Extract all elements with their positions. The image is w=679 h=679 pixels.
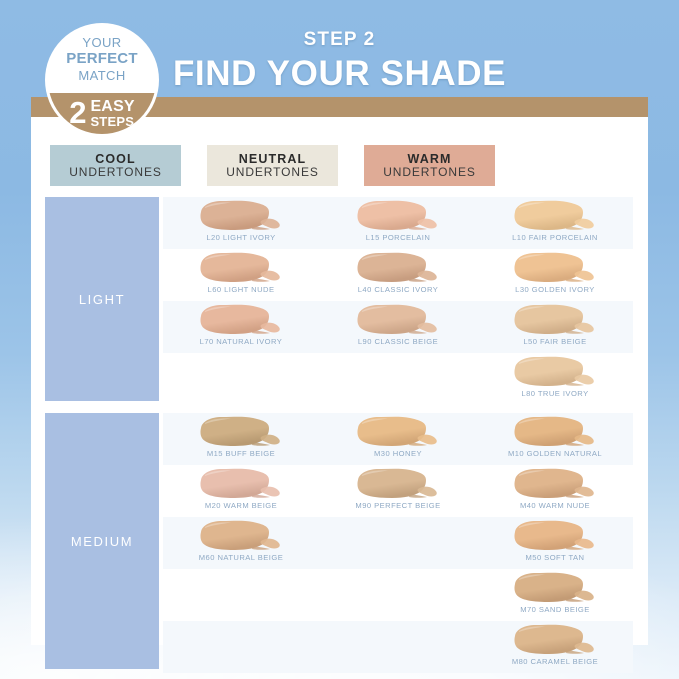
shade-row: M20 WARM BEIGEM90 PERFECT BEIGEM40 WARM …: [163, 465, 633, 517]
shade-cell[interactable]: M50 SOFT TAN: [477, 517, 633, 569]
badge-step-words: EASY STEPS: [90, 99, 134, 128]
shade-name-label: M20 WARM BEIGE: [163, 501, 319, 510]
shade-cell[interactable]: L70 NATURAL IVORY: [163, 301, 319, 353]
foundation-swatch-shape: [505, 571, 605, 604]
swatch-l60: [191, 251, 291, 284]
swatch-l40: [348, 251, 448, 284]
shade-name-label: L70 NATURAL IVORY: [163, 337, 319, 346]
shade-finder-poster: STEP 2 FIND YOUR SHADE COOLUNDERTONESNEU…: [0, 0, 679, 679]
foundation-swatch-shape: [505, 519, 605, 552]
badge-bottom: 2 EASY STEPS: [48, 93, 156, 134]
badge-line-match: MATCH: [78, 69, 125, 84]
shade-name-label: M90 PERFECT BEIGE: [320, 501, 476, 510]
shade-name-label: M30 HONEY: [320, 449, 476, 458]
swatch-l50: [505, 303, 605, 336]
undertone-name: WARM: [408, 152, 452, 166]
shade-cell-empty: [320, 353, 476, 405]
foundation-swatch-shape: [348, 415, 448, 448]
shade-name-label: L30 GOLDEN IVORY: [477, 285, 633, 294]
shade-grid: L20 LIGHT IVORYL15 PORCELAINL10 FAIR POR…: [163, 197, 633, 679]
shade-name-label: L20 LIGHT IVORY: [163, 233, 319, 242]
shade-name-label: M15 BUFF BEIGE: [163, 449, 319, 458]
foundation-swatch-shape: [348, 199, 448, 232]
shade-cell[interactable]: M60 NATURAL BEIGE: [163, 517, 319, 569]
foundation-swatch-shape: [505, 415, 605, 448]
shade-cell-empty: [320, 569, 476, 621]
undertone-name: NEUTRAL: [239, 152, 306, 166]
shade-name-label: L15 PORCELAIN: [320, 233, 476, 242]
badge-steps-label: STEPS: [90, 115, 134, 128]
depth-label: MEDIUM: [71, 534, 133, 549]
swatch-l90: [348, 303, 448, 336]
shade-name-label: L80 TRUE IVORY: [477, 389, 633, 398]
swatch-l30: [505, 251, 605, 284]
shade-cell-empty: [163, 353, 319, 405]
undertone-header-cool: COOLUNDERTONES: [50, 145, 181, 186]
badge-line-perfect: PERFECT: [66, 51, 137, 68]
shade-name-label: M10 GOLDEN NATURAL: [477, 449, 633, 458]
depth-block-light: LIGHT: [45, 197, 159, 401]
foundation-swatch-shape: [348, 467, 448, 500]
shade-cell[interactable]: M30 HONEY: [320, 413, 476, 465]
shade-cell-empty: [320, 517, 476, 569]
shade-chart-card: COOLUNDERTONESNEUTRALUNDERTONESWARMUNDER…: [31, 117, 648, 645]
swatch-l10: [505, 199, 605, 232]
badge-line-your: YOUR: [82, 36, 121, 51]
foundation-swatch-shape: [505, 251, 605, 284]
swatch-m70: [505, 571, 605, 604]
shade-cell[interactable]: M70 SAND BEIGE: [477, 569, 633, 621]
shade-cell[interactable]: L30 GOLDEN IVORY: [477, 249, 633, 301]
shade-cell[interactable]: M80 CARAMEL BEIGE: [477, 621, 633, 673]
shade-name-label: L10 FAIR PORCELAIN: [477, 233, 633, 242]
shade-name-label: M70 SAND BEIGE: [477, 605, 633, 614]
shade-name-label: M40 WARM NUDE: [477, 501, 633, 510]
foundation-swatch-shape: [505, 623, 605, 656]
foundation-swatch-shape: [191, 519, 291, 552]
swatch-l70: [191, 303, 291, 336]
shade-cell[interactable]: L40 CLASSIC IVORY: [320, 249, 476, 301]
shade-name-label: M60 NATURAL BEIGE: [163, 553, 319, 562]
shade-cell[interactable]: L90 CLASSIC BEIGE: [320, 301, 476, 353]
shade-row: M60 NATURAL BEIGEM50 SOFT TAN: [163, 517, 633, 569]
shade-cell[interactable]: M90 PERFECT BEIGE: [320, 465, 476, 517]
swatch-m90: [348, 467, 448, 500]
shade-cell[interactable]: M20 WARM BEIGE: [163, 465, 319, 517]
shade-cell-empty: [320, 621, 476, 673]
foundation-swatch-shape: [505, 199, 605, 232]
shade-cell[interactable]: L50 FAIR BEIGE: [477, 301, 633, 353]
shade-cell[interactable]: M10 GOLDEN NATURAL: [477, 413, 633, 465]
undertone-header-warm: WARMUNDERTONES: [364, 145, 495, 186]
badge-top: YOUR PERFECT MATCH: [48, 26, 156, 93]
shade-row: M15 BUFF BEIGEM30 HONEYM10 GOLDEN NATURA…: [163, 413, 633, 465]
swatch-m80: [505, 623, 605, 656]
foundation-swatch-shape: [505, 355, 605, 388]
shade-cell[interactable]: M15 BUFF BEIGE: [163, 413, 319, 465]
undertone-sublabel: UNDERTONES: [226, 166, 319, 179]
shade-cell[interactable]: L20 LIGHT IVORY: [163, 197, 319, 249]
shade-cell-empty: [163, 621, 319, 673]
swatch-m50: [505, 519, 605, 552]
undertone-header-row: COOLUNDERTONESNEUTRALUNDERTONESWARMUNDER…: [31, 145, 648, 189]
foundation-swatch-shape: [191, 199, 291, 232]
swatch-m30: [348, 415, 448, 448]
undertone-sublabel: UNDERTONES: [383, 166, 476, 179]
perfect-match-badge: YOUR PERFECT MATCH 2 EASY STEPS: [48, 26, 156, 134]
shade-name-label: L90 CLASSIC BEIGE: [320, 337, 476, 346]
shade-row: L70 NATURAL IVORYL90 CLASSIC BEIGEL50 FA…: [163, 301, 633, 353]
foundation-swatch-shape: [191, 415, 291, 448]
shade-name-label: M80 CARAMEL BEIGE: [477, 657, 633, 666]
shade-row: L20 LIGHT IVORYL15 PORCELAINL10 FAIR POR…: [163, 197, 633, 249]
foundation-swatch-shape: [191, 303, 291, 336]
foundation-swatch-shape: [348, 303, 448, 336]
shade-cell[interactable]: L80 TRUE IVORY: [477, 353, 633, 405]
badge-easy-label: EASY: [90, 99, 134, 115]
shade-row: M80 CARAMEL BEIGE: [163, 621, 633, 673]
shade-name-label: L40 CLASSIC IVORY: [320, 285, 476, 294]
foundation-swatch-shape: [505, 303, 605, 336]
shade-cell-empty: [163, 569, 319, 621]
swatch-m20: [191, 467, 291, 500]
foundation-swatch-shape: [191, 467, 291, 500]
swatch-l15: [348, 199, 448, 232]
undertone-header-neutral: NEUTRALUNDERTONES: [207, 145, 338, 186]
swatch-m15: [191, 415, 291, 448]
foundation-swatch-shape: [348, 251, 448, 284]
foundation-swatch-shape: [191, 251, 291, 284]
shade-name-label: L60 LIGHT NUDE: [163, 285, 319, 294]
shade-cell[interactable]: M40 WARM NUDE: [477, 465, 633, 517]
undertone-name: COOL: [95, 152, 136, 166]
swatch-m60: [191, 519, 291, 552]
shade-name-label: M50 SOFT TAN: [477, 553, 633, 562]
swatch-l20: [191, 199, 291, 232]
swatch-l80: [505, 355, 605, 388]
shade-row: M70 SAND BEIGE: [163, 569, 633, 621]
shade-cell[interactable]: L15 PORCELAIN: [320, 197, 476, 249]
depth-label: LIGHT: [79, 292, 125, 307]
shade-cell[interactable]: L10 FAIR PORCELAIN: [477, 197, 633, 249]
shade-cell[interactable]: L60 LIGHT NUDE: [163, 249, 319, 301]
depth-block-medium: MEDIUM: [45, 413, 159, 669]
badge-step-number: 2: [69, 100, 86, 126]
shade-row: L80 TRUE IVORY: [163, 353, 633, 405]
swatch-m10: [505, 415, 605, 448]
foundation-swatch-shape: [505, 467, 605, 500]
shade-row: L60 LIGHT NUDEL40 CLASSIC IVORYL30 GOLDE…: [163, 249, 633, 301]
shade-name-label: L50 FAIR BEIGE: [477, 337, 633, 346]
swatch-m40: [505, 467, 605, 500]
undertone-sublabel: UNDERTONES: [69, 166, 162, 179]
